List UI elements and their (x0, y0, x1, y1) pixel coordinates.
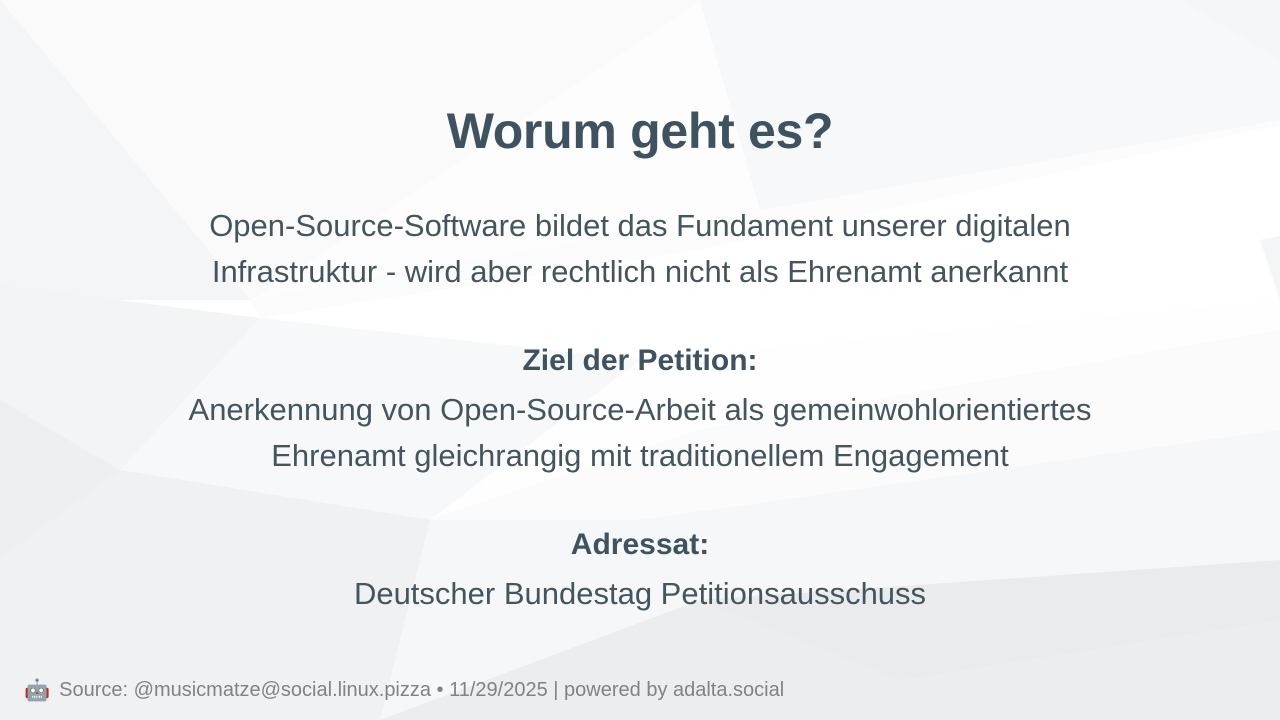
page-title: Worum geht es? (447, 104, 834, 159)
quote-card: Worum geht es? Open-Source-Software bild… (0, 0, 1280, 720)
attribution-text: Source: @musicmatze@social.linux.pizza •… (59, 678, 784, 702)
goal-heading: Ziel der Petition: (0, 339, 1280, 383)
robot-face-icon: 🤖 (24, 680, 50, 701)
slide-content: Worum geht es? Open-Source-Software bild… (0, 0, 1280, 720)
attribution-footer: 🤖 Source: @musicmatze@social.linux.pizza… (24, 678, 784, 702)
goal-block: Ziel der Petition: Anerkennung von Open-… (0, 339, 1280, 479)
addressee-block: Adressat: Deutscher Bundestag Petitionsa… (0, 523, 1280, 617)
intro-line-2: Infrastruktur - wird aber rechtlich nich… (0, 249, 1280, 295)
goal-line-1: Anerkennung von Open-Source-Arbeit als g… (0, 387, 1280, 433)
addressee-line-1: Deutscher Bundestag Petitionsausschuss (0, 571, 1280, 617)
goal-line-2: Ehrenamt gleichrangig mit traditionellem… (0, 433, 1280, 479)
addressee-heading: Adressat: (0, 523, 1280, 567)
intro-block: Open-Source-Software bildet das Fundamen… (0, 203, 1280, 295)
intro-line-1: Open-Source-Software bildet das Fundamen… (0, 203, 1280, 249)
